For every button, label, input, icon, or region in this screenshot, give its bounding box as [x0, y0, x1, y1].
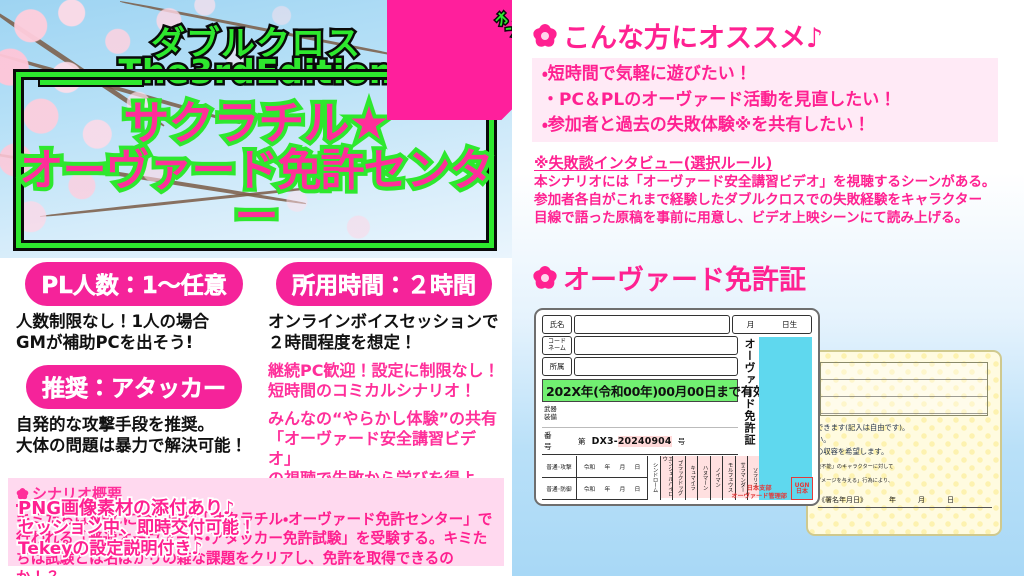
info-grid: PL人数：1～任意 人数制限なし！1人の場合 GMが補助PCを出そう! 推奨：ア… [0, 262, 512, 472]
info-column-right: 所用時間：２時間 オンラインボイスセッションで ２時間程度を想定！ 継続PC歓迎… [262, 262, 506, 509]
signature-label: 《署名年月日》 [818, 495, 867, 505]
session-note: セッション中、即時交付可能！ Tekeyの設定説明付き♪ [18, 518, 256, 561]
license-card-front: 氏名 月 日生 コード ネーム 所属 202X年(令和00年)00月00日まで有… [534, 308, 820, 506]
syndrome-name: ブラックドッグ [673, 456, 685, 498]
license-row-affiliation: 所属 [542, 357, 738, 376]
license-field-name[interactable] [574, 315, 730, 334]
seal-line-2: 日本 [796, 489, 808, 495]
syndrome-col-header: シンドローム [648, 456, 661, 500]
syndrome-col: キュマイラ [686, 456, 699, 500]
list-item: ・短時間で気軽に遊びたい！ [542, 62, 988, 88]
corner-ribbon: オンラインシナリオ [387, 0, 512, 120]
license-card-right-column: オーヴァード免許証 [740, 336, 812, 500]
sakura-flower-icon [532, 23, 558, 49]
recommend-section-heading: こんな方にオススメ♪ [563, 16, 823, 55]
left-panel: ダブルクロス The3rdEdition サクラチル★ オーヴァード免許センター… [0, 0, 512, 576]
date-day: 日 [635, 484, 641, 493]
recommend-list: ・短時間で気軽に遊びたい！ ・PC＆PLのオーヴァード活動を見直したい！ ・参加… [532, 58, 998, 142]
signature-day: 日 [947, 495, 954, 505]
license-field-codename[interactable] [574, 336, 738, 355]
recommended-role-note: 自発的な攻撃手段を推奨。 大体の問題は暴力で解決可能！ [16, 415, 256, 456]
signature-year: 年 [889, 495, 896, 505]
duration-pill: 所用時間：２時間 [276, 262, 492, 306]
player-count-pill-wrap: PL人数：1～任意 [10, 262, 258, 306]
list-item: ・参加者と過去の失敗体験※を共有したい！ [542, 113, 988, 139]
license-row1-label: 普通･攻撃 [542, 456, 577, 477]
license-row2-label: 普通･防御 [542, 478, 577, 499]
date-month: 月 [620, 462, 626, 471]
license-card-back-small-line: ダメージを与える」行為により、 [816, 478, 992, 486]
license-card-back-line: できます(記入は自由です)。 [816, 422, 992, 434]
dob-day-label: 日生 [782, 319, 797, 330]
syndrome-col: ハヌマーン [698, 456, 711, 500]
optional-rule-note: ※失敗談インタビュー(選択ルール) 本シナリオには「オーヴァード安全講習ビデオ」… [534, 152, 1014, 228]
license-row-name: 氏名 月 日生 [542, 315, 812, 334]
license-validity-banner: 202X年(令和00年)00月00日まで有効 [542, 379, 738, 402]
license-row-arms: 武器 装備 [542, 404, 738, 428]
license-card-body: コード ネーム 所属 202X年(令和00年)00月00日まで有効 武器 装備 … [542, 336, 812, 500]
license-section-heading: オーヴァード免許証 [563, 258, 806, 297]
date-month: 月 [620, 484, 626, 493]
license-label-arms: 武器 装備 [544, 406, 557, 421]
optional-rule-title: ※失敗談インタビュー(選択ルール) [534, 152, 772, 173]
table-row: 普通･攻撃 令和 年 月 日 [542, 456, 647, 478]
recommended-role-pill: 推奨：アタッカー [26, 365, 242, 409]
syndrome-name: ノイマン [711, 456, 723, 498]
signature-month: 月 [918, 495, 925, 505]
license-issuer: 日本支部 オーヴァード管理部 [731, 485, 787, 500]
duration-pill-wrap: 所用時間：２時間 [262, 262, 506, 306]
license-card-back-line: の収容を希望します。 [816, 446, 992, 458]
dob-month-label: 月 [747, 319, 755, 330]
duration-note: オンラインボイスセッションで ２時間程度を想定！ [268, 312, 504, 353]
license-number-value: DX3-20240904 [592, 436, 672, 447]
page-title-line2: オーヴァード免許センター [0, 148, 512, 240]
recommended-role-pill-wrap: 推奨：アタッカー [10, 365, 258, 409]
license-section-heading-row: オーヴァード免許証 [532, 258, 806, 297]
poster-root: ダブルクロス The3rdEdition サクラチル★ オーヴァード免許センター… [0, 0, 1024, 576]
license-number-highlight: 20240904 [618, 436, 672, 447]
recommend-section-heading-row: こんな方にオススメ♪ [532, 16, 823, 55]
date-year: 年 [604, 462, 610, 471]
license-label-name: 氏名 [542, 315, 572, 334]
license-grid-left: 普通･攻撃 令和 年 月 日 普通･防御 令和 [542, 456, 647, 500]
license-row-number: 番 号 第 DX3-20240904 号 [542, 428, 738, 455]
license-label-codename: コード ネーム [542, 336, 572, 355]
license-card-footer: 日本支部 オーヴァード管理部 UGN 日本 [731, 477, 813, 500]
table-row: 普通･防御 令和 年 月 日 [542, 478, 647, 500]
list-item: ・PC＆PLのオーヴァード活動を見直したい！ [542, 88, 988, 114]
png-asset-note: PNG画像素材の添付あり♪ [18, 494, 235, 520]
sakura-flower-icon [532, 265, 558, 291]
license-card-back-signature-row: 《署名年月日》 年 月 日 [818, 495, 992, 508]
license-vertical-title: オーヴァード免許証 [740, 336, 758, 500]
date-year: 年 [604, 484, 610, 493]
license-number-static: DX3- [592, 436, 618, 447]
syndrome-name: ハヌマーン [698, 456, 710, 498]
optional-rule-line: 目線で語った原稿を事前に用意し、ビデオ上映シーンにて読み上げる。 [534, 209, 1014, 227]
date-era: 令和 [584, 462, 596, 471]
license-syndrome-grid: 普通･攻撃 令和 年 月 日 普通･防御 令和 [542, 456, 738, 500]
syndrome-name: エンジェルハイロウ [661, 456, 673, 498]
license-field-dob[interactable]: 月 日生 [732, 315, 812, 334]
license-card-left-column: コード ネーム 所属 202X年(令和00年)00月00日まで有効 武器 装備 … [542, 336, 738, 500]
optional-rule-line: 本シナリオには「オーヴァード安全講習ビデオ」を視聴するシーンがある。 [534, 173, 1014, 191]
license-field-affiliation[interactable] [574, 357, 738, 376]
license-label-number: 番 号 [544, 430, 572, 452]
date-era: 令和 [584, 484, 596, 493]
syndrome-col: ブラックドッグ [673, 456, 686, 500]
ugn-seal-icon: UGN 日本 [791, 477, 813, 500]
syndrome-col: エンジェルハイロウ [661, 456, 674, 500]
license-row2-date[interactable]: 令和 年 月 日 [577, 484, 647, 493]
info-column-left: PL人数：1～任意 人数制限なし！1人の場合 GMが補助PCを出そう! 推奨：ア… [10, 262, 258, 457]
syndrome-name: キュマイラ [686, 456, 698, 498]
license-number-suffix: 号 [678, 436, 686, 447]
license-card-back-line: い。 [816, 434, 992, 446]
license-row-codename: コード ネーム [542, 336, 738, 355]
date-day: 日 [635, 462, 641, 471]
license-card-back: できます(記入は自由です)。 い。 の収容を希望します。 能不能」のキャラクター… [806, 350, 1002, 536]
duration-pink-note-1: 継続PC歓迎！設定に制限なし！ 短時間のコミカルシナリオ！ [268, 361, 504, 401]
license-number-prefix: 第 [578, 436, 586, 447]
player-count-note: 人数制限なし！1人の場合 GMが補助PCを出そう! [16, 312, 256, 353]
license-card-back-inner: できます(記入は自由です)。 い。 の収容を希望します。 能不能」のキャラクター… [808, 352, 1000, 486]
license-photo-placeholder [759, 337, 812, 500]
page-title: サクラチル★ オーヴァード免許センター [0, 100, 512, 239]
spacer [10, 353, 258, 365]
syndrome-col: ノイマン [711, 456, 724, 500]
license-row1-date[interactable]: 令和 年 月 日 [577, 462, 647, 471]
optional-rule-line: 参加者各自がこれまで経験したダブルクロスでの失敗経験をキャラクター [534, 191, 1014, 209]
license-label-affiliation: 所属 [542, 357, 572, 376]
license-card-back-writein-box [820, 362, 988, 416]
player-count-pill: PL人数：1～任意 [25, 262, 243, 306]
syndrome-header-label: シンドローム [648, 456, 660, 498]
license-card-back-small-line: 能不能」のキャラクターに対して [816, 464, 992, 472]
